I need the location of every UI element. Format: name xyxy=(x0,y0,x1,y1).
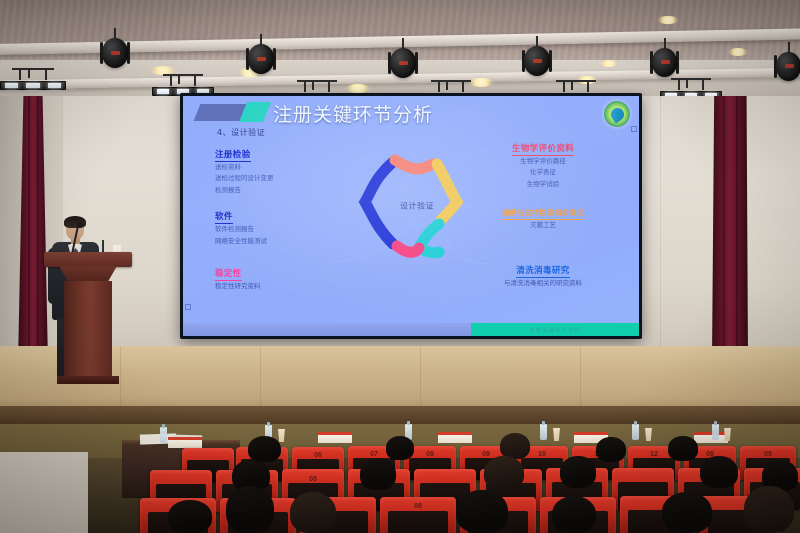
projection-screen: 注册关键环节分析 4、设计验证 注册检验 送检资料 送检过程的设计变更 xyxy=(180,93,642,339)
group-support-testing: 辅助与支持性能相关测试 灭菌工艺 xyxy=(483,202,603,231)
ledbar-hanger-center xyxy=(28,68,30,78)
table-nameplate xyxy=(694,432,728,443)
yellow-segment xyxy=(437,164,457,220)
audience-head xyxy=(744,486,794,533)
downlight xyxy=(600,60,618,67)
presentation-slide: 注册关键环节分析 4、设计验证 注册检验 送检资料 送检过程的设计变更 xyxy=(183,96,639,336)
side-aisle xyxy=(0,452,88,533)
led-cell xyxy=(157,89,170,93)
slide-corner-mark xyxy=(631,126,637,132)
audience-head xyxy=(552,496,596,533)
audience-head xyxy=(700,456,738,488)
group-line: 送检过程的设计变更 xyxy=(215,173,335,184)
stage-curtain-right xyxy=(712,96,748,361)
audience-head xyxy=(560,456,596,488)
water-bottle xyxy=(540,424,547,440)
institution-logo-icon xyxy=(604,101,630,127)
table-nameplate xyxy=(318,432,352,443)
wall-seam xyxy=(660,96,661,348)
audience-head xyxy=(226,486,274,533)
led-cell xyxy=(26,83,39,87)
wooden-podium xyxy=(44,252,132,384)
audience-head xyxy=(662,492,712,533)
seat-number: 08 xyxy=(414,503,422,510)
curtain-fold xyxy=(736,96,738,361)
audience-head xyxy=(248,436,281,462)
seat-cushion xyxy=(388,511,449,533)
curtain-fold xyxy=(723,96,725,361)
curtain-fold xyxy=(37,96,39,364)
spotlight-badge xyxy=(533,59,542,63)
microphone-icon xyxy=(77,222,83,228)
star-diagram: 设计验证 xyxy=(353,136,481,271)
group-heading: 清洗消毒研究 xyxy=(516,264,569,278)
group-heading: 软件 xyxy=(215,210,233,224)
group-line: 稳定性研究资料 xyxy=(215,281,335,292)
spotlight-badge xyxy=(257,57,266,61)
audience-head xyxy=(386,436,414,460)
downlight xyxy=(657,16,679,24)
stage-spotlight xyxy=(524,46,550,76)
group-line: 生物学试验 xyxy=(483,179,603,190)
water-bottle xyxy=(160,427,167,443)
podium-top xyxy=(44,252,132,267)
group-line: 检测报告 xyxy=(215,185,335,196)
audience-head xyxy=(484,456,524,490)
ledbar-hanger-center xyxy=(446,80,448,90)
group-line: 送检资料 xyxy=(215,162,335,173)
downlight xyxy=(345,84,371,93)
spotlight-badge xyxy=(111,51,120,55)
water-bottle xyxy=(632,424,639,440)
stage-spotlight xyxy=(102,38,128,68)
slide-footer-text: 注册关键环节分析 xyxy=(529,326,581,334)
audience-head xyxy=(168,500,212,533)
group-software: 软件 软件检测报告 网络安全性能测试 xyxy=(215,206,335,247)
ledbar-hanger-center xyxy=(178,74,180,84)
slide-title: 注册关键环节分析 xyxy=(273,100,433,127)
curtain-fold xyxy=(28,96,30,364)
audience-head xyxy=(360,458,396,490)
slide-footer-accent: 注册关键环节分析 xyxy=(471,323,639,336)
podium-neck xyxy=(59,266,117,282)
floor-plank-line xyxy=(420,346,421,412)
audience-head xyxy=(290,492,336,533)
ledbar-hanger xyxy=(431,80,471,90)
seat-number: 08 xyxy=(309,476,317,483)
podium-body xyxy=(64,281,112,377)
group-heading: 辅助与支持性能相关测试 xyxy=(502,208,583,220)
logo-bird-shape xyxy=(608,105,626,123)
group-heading: 注册检验 xyxy=(215,148,251,162)
ledbar-hanger xyxy=(556,80,596,90)
slide-corner-mark xyxy=(185,304,191,310)
floor-plank-line xyxy=(260,346,261,412)
ledbar-hanger xyxy=(671,78,711,88)
stage-spotlight xyxy=(652,48,677,77)
led-bar-light xyxy=(0,68,66,90)
water-bottle xyxy=(712,424,719,440)
right-content-column: 生物学评价资料 生物学评价路径 化学表征 生物学试验 辅助与支持性能相关测试 灭… xyxy=(483,138,603,295)
group-line: 与清洗消毒相关的研究资料 xyxy=(483,278,603,289)
coral-segment xyxy=(395,160,433,169)
group-line: 软件检测报告 xyxy=(215,224,335,235)
audience-head xyxy=(596,437,626,462)
pink-segment xyxy=(397,246,419,252)
slide-subtitle: 4、设计验证 xyxy=(217,127,265,138)
spotlight-badge xyxy=(785,64,794,68)
stage-spotlight xyxy=(776,52,800,81)
table-nameplate xyxy=(168,437,202,448)
group-line: 网络安全性能测试 xyxy=(215,236,335,247)
group-registration-inspection: 注册检验 送检资料 送检过程的设计变更 检测报告 xyxy=(215,144,335,196)
group-line: 灭菌工艺 xyxy=(483,220,603,231)
group-stability: 稳定性 稳定性研究资料 xyxy=(215,263,335,292)
led-cell xyxy=(5,83,18,87)
ledbar-hanger xyxy=(12,68,54,78)
ledbar-hanger-center xyxy=(686,78,688,88)
ledbar-hanger xyxy=(297,80,337,90)
group-heading: 生物学评价资料 xyxy=(512,142,574,156)
audience-head xyxy=(668,436,698,461)
stage-spotlight xyxy=(390,48,416,78)
star-center-label: 设计验证 xyxy=(400,201,434,212)
group-heading: 稳定性 xyxy=(215,267,242,281)
group-biological-evaluation: 生物学评价资料 生物学评价路径 化学表征 生物学试验 xyxy=(483,138,603,190)
downlight xyxy=(728,48,748,56)
floor-plank-line xyxy=(580,346,581,412)
spotlight-badge xyxy=(661,60,670,64)
blue-segment xyxy=(365,162,393,244)
group-cleaning-disinfection: 清洗消毒研究 与清洗消毒相关的研究资料 xyxy=(483,260,603,289)
podium-base xyxy=(57,376,119,384)
audience-head xyxy=(456,490,508,533)
group-line: 生物学评价路径 xyxy=(483,156,603,167)
auditorium-seat[interactable]: 08 xyxy=(380,497,456,533)
ledbar-hanger-center xyxy=(571,80,573,90)
spotlight-badge xyxy=(399,61,408,65)
stage-spotlight xyxy=(248,44,274,74)
auditorium-photo: 注册关键环节分析 4、设计验证 注册检验 送检资料 送检过程的设计变更 xyxy=(0,0,800,533)
group-line: 化学表征 xyxy=(483,167,603,178)
ledbar-hanger-center xyxy=(312,80,314,90)
led-cell xyxy=(48,83,61,87)
ledbar-hanger xyxy=(163,74,203,84)
ledbar-frame xyxy=(0,81,66,90)
table-nameplate xyxy=(438,432,472,443)
left-content-column: 注册检验 送检资料 送检过程的设计变更 检测报告 软件 软件检测报告 网络安全性… xyxy=(215,144,335,298)
